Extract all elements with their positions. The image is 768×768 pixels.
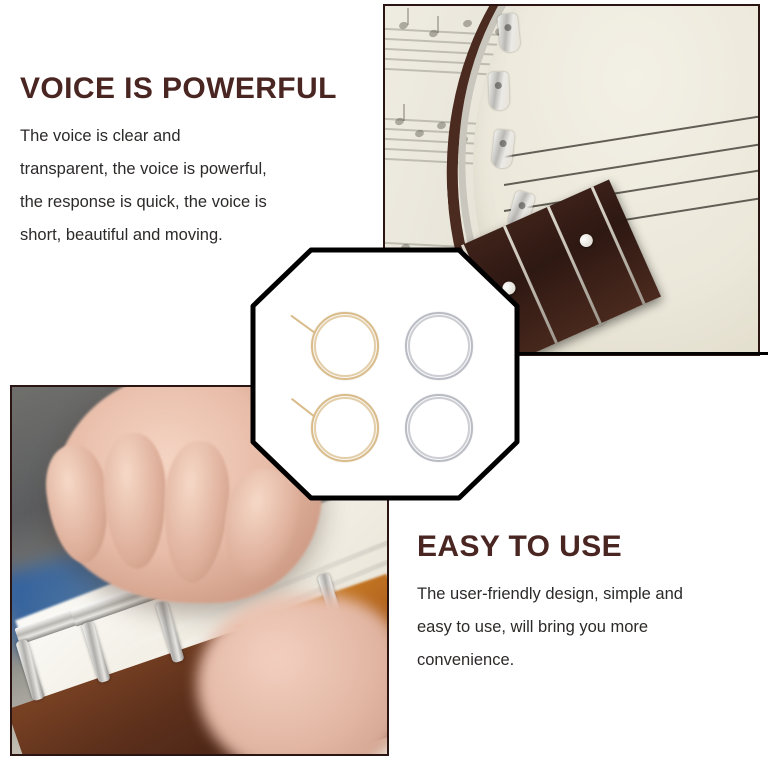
octagon-polygon <box>253 250 517 498</box>
coiled-string-steel-top-right <box>405 312 475 382</box>
coiled-string-steel-bottom-right <box>405 394 475 464</box>
octagon-callout <box>249 246 521 502</box>
tension-hook <box>497 13 521 53</box>
feature-heading-voice: VOICE IS POWERFUL <box>20 72 350 106</box>
feature-body-line: The user-friendly design, simple and <box>417 578 757 611</box>
feature-body-line: transparent, the voice is powerful, <box>20 153 350 186</box>
coiled-string-bronze-bottom-left <box>311 394 381 464</box>
feature-body-voice: The voice is clear and transparent, the … <box>20 120 350 252</box>
feature-heading-easy: EASY TO USE <box>417 530 757 564</box>
fret-inlay-dot <box>578 232 595 249</box>
callout-connector-line <box>515 352 768 355</box>
feature-body-line: the response is quick, the voice is <box>20 186 350 219</box>
octagon-outline-shape <box>249 246 521 502</box>
feature-body-line: easy to use, will bring you more <box>417 611 757 644</box>
feature-graphic-canvas: VOICE IS POWERFUL The voice is clear and… <box>0 0 768 768</box>
feature-body-easy: The user-friendly design, simple and eas… <box>417 578 757 677</box>
feature-block-voice: VOICE IS POWERFUL The voice is clear and… <box>20 72 350 252</box>
coiled-string-bronze-top-left <box>311 312 381 382</box>
feature-body-line: convenience. <box>417 644 757 677</box>
feature-block-easy: EASY TO USE The user-friendly design, si… <box>417 530 757 677</box>
tension-hook <box>488 72 509 111</box>
feature-body-line: short, beautiful and moving. <box>20 219 350 252</box>
feature-body-line: The voice is clear and <box>20 120 350 153</box>
